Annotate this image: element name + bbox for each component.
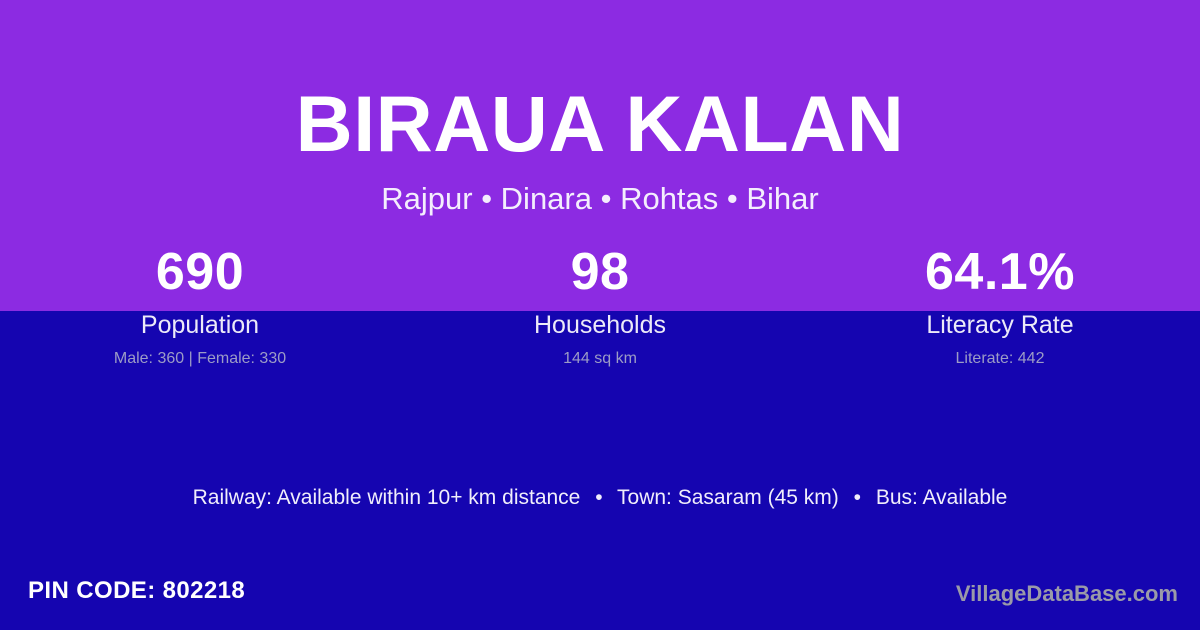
bullet-separator-icon: • bbox=[845, 484, 870, 512]
stat-label: Literacy Rate bbox=[800, 310, 1200, 340]
stat-value: 64.1% bbox=[800, 243, 1200, 301]
card-content: BIRAUA KALAN Rajpur • Dinara • Rohtas • … bbox=[0, 0, 1200, 630]
stat-sublabel: Literate: 442 bbox=[800, 349, 1200, 369]
stat-population: 690 Population Male: 360 | Female: 330 bbox=[0, 243, 400, 369]
brand-watermark: VillageDataBase.com bbox=[956, 580, 1178, 608]
stat-households: 98 Households 144 sq km bbox=[400, 243, 800, 369]
breadcrumb: Rajpur • Dinara • Rohtas • Bihar bbox=[0, 180, 1200, 218]
stat-label: Households bbox=[400, 310, 800, 340]
page-title: BIRAUA KALAN bbox=[0, 80, 1200, 168]
stat-label: Population bbox=[0, 310, 400, 340]
amenities-row: Railway: Available within 10+ km distanc… bbox=[0, 484, 1200, 512]
amenity-bus: Bus: Available bbox=[876, 486, 1008, 509]
amenity-town: Town: Sasaram (45 km) bbox=[617, 486, 839, 509]
stat-sublabel: Male: 360 | Female: 330 bbox=[0, 349, 400, 369]
village-info-card: BIRAUA KALAN Rajpur • Dinara • Rohtas • … bbox=[0, 0, 1200, 630]
bullet-separator-icon: • bbox=[586, 484, 611, 512]
stat-value: 98 bbox=[400, 243, 800, 301]
pin-code: PIN CODE: 802218 bbox=[28, 576, 245, 606]
stat-literacy-rate: 64.1% Literacy Rate Literate: 442 bbox=[800, 243, 1200, 369]
stat-sublabel: 144 sq km bbox=[400, 349, 800, 369]
stats-row: 690 Population Male: 360 | Female: 330 9… bbox=[0, 243, 1200, 369]
amenity-railway: Railway: Available within 10+ km distanc… bbox=[193, 486, 581, 509]
stat-value: 690 bbox=[0, 243, 400, 301]
